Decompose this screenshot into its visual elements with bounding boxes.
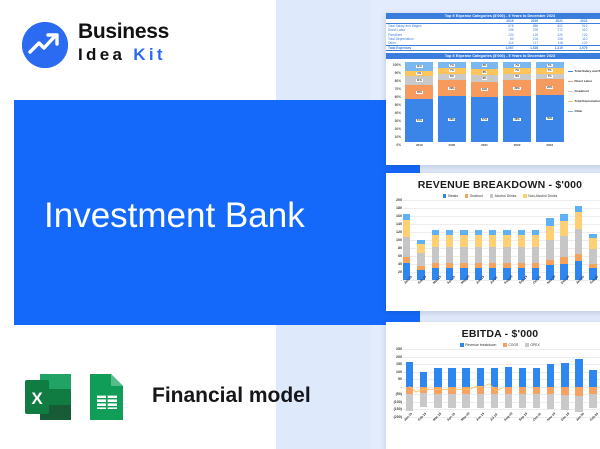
bar-value-label: 8% (482, 77, 488, 80)
axis-tick: 120 (396, 230, 402, 234)
bar-segment (561, 387, 568, 395)
bar-segment (460, 235, 467, 247)
axis-tick: 20% (388, 126, 401, 134)
stacked-bar: 11%6%11%18%54% (405, 62, 433, 142)
brand-kit-word: Kit (133, 45, 166, 64)
axis-tick: 20 (398, 270, 402, 274)
cell: 1,579 (565, 46, 590, 51)
legend-item: Steaks (443, 194, 458, 198)
bar-value-label: 20% (513, 87, 520, 90)
bar-segment (403, 237, 410, 257)
bar-segment (519, 387, 526, 394)
bar-segment: 59% (536, 95, 564, 142)
bar-value-label: 19% (481, 88, 488, 91)
axis-tick: 200 (396, 355, 402, 359)
axis-tick: 80 (398, 246, 402, 250)
legend-item: Seafood (465, 194, 483, 198)
bar-segment (475, 247, 482, 263)
bar-value-label: 8% (482, 71, 488, 74)
bar-segment (575, 396, 582, 412)
bar-segment (503, 247, 510, 263)
expense-table: 2019 2020 2021 2022 2023 Total Salary an… (386, 19, 600, 51)
bar-segment (446, 247, 453, 263)
revenue-y-axis: -20406080100120140160180200 (388, 200, 402, 280)
bar-value-label: 18% (416, 91, 423, 94)
bar-segment (589, 370, 596, 387)
legend-label: Other (575, 109, 583, 113)
bar-segment (575, 254, 582, 261)
axis-tick: 70% (388, 86, 401, 94)
bar-segment (547, 364, 554, 387)
legend-swatch (465, 194, 468, 197)
stacked-bar (446, 200, 453, 280)
bar-segment (432, 247, 439, 263)
axis-tick: (200) (394, 415, 402, 419)
bar-value-label: 58% (513, 118, 520, 121)
preview-stack: Top 5 Expense Categories ($'000) - 5 Yea… (370, 0, 600, 449)
bar-segment: 58% (438, 96, 466, 142)
bar-segment (533, 387, 540, 394)
axis-tick: (50) (396, 392, 402, 396)
bar-segment (546, 226, 553, 240)
bar-column (561, 349, 568, 417)
axis-label: 2019 (405, 143, 433, 147)
bar-segment (489, 235, 496, 247)
legend-label: Non-Alcohol Drinks (528, 194, 557, 198)
page-title: Investment Bank (44, 196, 424, 236)
bar-segment (518, 235, 525, 247)
axis-tick: 80% (388, 78, 401, 86)
axis-tick: 250 (396, 347, 402, 351)
brand-wordmark: Business Idea Kit (78, 20, 169, 66)
slide-canvas: Business Idea Kit Investment Bank X (0, 0, 600, 449)
cell: 1,526 (516, 46, 541, 51)
axis-tick: - (401, 385, 402, 389)
bar-segment (575, 229, 582, 254)
axis-tick: 100 (396, 370, 402, 374)
bar-column (533, 349, 540, 417)
bar-segment (589, 387, 596, 394)
stacked-bar (589, 200, 596, 280)
bar-segment (547, 387, 554, 395)
bar-segment: 20% (438, 80, 466, 96)
bar-segment (561, 395, 568, 411)
legend-swatch (443, 194, 446, 197)
stacked-bar: 7%7%7%20%59% (536, 62, 564, 142)
bar-value-label: 11% (416, 79, 423, 82)
cell: 1,732 (589, 46, 600, 51)
axis-tick: 0% (388, 142, 401, 150)
stacked-bar (503, 200, 510, 280)
stacked-bar: 7%7%8%20%58% (503, 62, 531, 142)
legend-swatch (490, 194, 493, 197)
ebitda-card[interactable]: EBITDA - $'000 Revenue breakdownCOGSOPEX… (386, 322, 600, 449)
bar-segment: 58% (503, 96, 531, 142)
axis-tick: 50% (388, 102, 401, 110)
axis-tick: 140 (396, 222, 402, 226)
bar-segment (575, 387, 582, 396)
bar-segment (560, 214, 567, 221)
bar-value-label: 11% (416, 65, 423, 68)
legend-label: Revenue breakdown (465, 343, 496, 347)
bar-segment (518, 247, 525, 263)
legend-item: Other (568, 109, 600, 113)
bar-segment (589, 394, 596, 408)
axis-tick: 100% (388, 62, 401, 70)
axis-label: 2020 (438, 143, 466, 147)
legend-label: Fixed/rent (575, 89, 589, 93)
axis-tick: 50 (398, 377, 402, 381)
bar-segment (532, 247, 539, 263)
axis-tick: (150) (394, 407, 402, 411)
stacked-bar (532, 200, 539, 280)
ebitda-legend: Revenue breakdownCOGSOPEX (386, 343, 600, 347)
legend-item: Fixed/rent (568, 89, 600, 93)
bar-segment: 54% (405, 99, 433, 142)
bar-segment (533, 368, 540, 387)
microsoft-excel-icon: X (24, 372, 72, 422)
axis-tick: 160 (396, 214, 402, 218)
bar-segment (475, 235, 482, 247)
bar-segment (547, 394, 554, 409)
bar-segment (575, 359, 582, 387)
legend-label: OPEX (530, 343, 539, 347)
legend-item: COGS (503, 343, 518, 347)
row-label: Total Expenses (386, 46, 491, 51)
brand-idea-word: Idea (78, 45, 125, 64)
bar-value-label: 6% (416, 72, 422, 75)
stacked-bar (432, 200, 439, 280)
revenue-legend: SteaksSeafoodAlcohol DrinksNon-Alcohol D… (386, 194, 600, 198)
legend-swatch (525, 343, 528, 346)
revenue-plot: -20406080100120140160180200 Jan-19Feb-19… (386, 200, 600, 298)
bar-segment (446, 235, 453, 247)
expense-categories-card[interactable]: Top 5 Expense Categories ($'000) - 5 Yea… (386, 13, 600, 165)
ebitda-opex-line (406, 349, 506, 417)
legend-item: Direct Labor (568, 79, 600, 83)
legend-item: OPEX (525, 343, 539, 347)
bar-value-label: 7% (514, 64, 520, 67)
bar-value-label: 8% (482, 64, 488, 67)
bar-segment (503, 235, 510, 247)
bar-segment (560, 221, 567, 236)
axis-tick: 200 (396, 198, 402, 202)
bar-segment (432, 235, 439, 247)
axis-tick: 60 (398, 254, 402, 258)
ebitda-y-axis: (200)(150)(100)(50)-50100150200250 (388, 349, 402, 417)
bar-segment (589, 238, 596, 248)
bar-segment: 11% (405, 62, 433, 71)
axis-label: 2023 (536, 143, 564, 147)
axis-tick: 180 (396, 206, 402, 210)
stacked-bar (417, 200, 424, 280)
brand-line-1: Business (78, 20, 169, 44)
stacked-bar: 7%7%8%20%58% (438, 62, 466, 142)
legend-item: Total Depreciation (568, 99, 600, 103)
svg-text:X: X (31, 389, 43, 408)
bar-segment (417, 253, 424, 266)
legend-swatch (568, 91, 573, 93)
bar-value-label: 7% (547, 69, 553, 72)
bar-segment (460, 247, 467, 263)
bar-segment: 20% (536, 79, 564, 95)
stacked-bar (518, 200, 525, 280)
bar-segment (403, 220, 410, 237)
bar-segment (546, 218, 553, 226)
legend-label: Alcohol Drinks (495, 194, 517, 198)
bar-value-label: 8% (514, 75, 520, 78)
format-label: Financial model (152, 384, 311, 408)
bar-value-label: 7% (547, 75, 553, 78)
cell: 1,067 (491, 46, 516, 51)
revenue-x-axis: Jan-19Feb-19Mar-19Apr-19May-19Jun-19Jul-… (403, 282, 600, 286)
ebitda-plot: (200)(150)(100)(50)-50100150200250 Jan-1… (386, 349, 600, 437)
legend-label: Seafood (470, 194, 483, 198)
axis-label: 2022 (503, 143, 531, 147)
legend-item: Non-Alcohol Drinks (523, 194, 557, 198)
legend-label: Direct Labor (575, 79, 593, 83)
stacked-x-axis: 20192020202120222023 (403, 143, 566, 147)
stacked-y-axis: 100%90%80%70%60%50%40%30%20%10%0% (388, 62, 401, 142)
axis-tick: 90% (388, 70, 401, 78)
bar-segment (519, 368, 526, 387)
legend-item: Revenue breakdown (460, 343, 496, 347)
expense-stacked-chart: 100%90%80%70%60%50%40%30%20%10%0% 11%6%1… (386, 59, 600, 154)
bar-column (547, 349, 554, 417)
bar-value-label: 20% (448, 87, 455, 90)
bar-segment: 18% (405, 85, 433, 99)
bar-segment: 57% (471, 97, 499, 143)
bar-value-label: 7% (547, 64, 553, 67)
bar-segment (533, 394, 540, 409)
legend-swatch (523, 194, 526, 197)
axis-tick: 150 (396, 362, 402, 366)
revenue-bars (403, 200, 600, 280)
bar-value-label: 7% (514, 69, 520, 72)
bar-value-label: 57% (481, 118, 488, 121)
bar-value-label: 58% (448, 118, 455, 121)
axis-label: 2021 (471, 143, 499, 147)
ebitda-chart-title: EBITDA - $'000 (386, 328, 600, 340)
bar-column (519, 349, 526, 417)
legend-label: Total Depreciation (575, 99, 600, 103)
legend-label: Total Salary and Wages (575, 69, 600, 73)
bar-value-label: 54% (416, 119, 423, 122)
bar-segment (560, 236, 567, 257)
stacked-bar (546, 200, 553, 280)
axis-tick: (100) (394, 400, 402, 404)
legend-swatch (460, 343, 463, 346)
bar-segment: 11% (405, 76, 433, 85)
revenue-breakdown-card[interactable]: REVENUE BREAKDOWN - $'000 SteaksSeafoodA… (386, 173, 600, 311)
axis-tick: 40% (388, 110, 401, 118)
google-sheets-icon (84, 372, 132, 422)
stacked-bar (460, 200, 467, 280)
bar-segment (489, 247, 496, 263)
stacked-bar (489, 200, 496, 280)
stacked-bar (475, 200, 482, 280)
bar-segment: 19% (471, 82, 499, 97)
ebitda-x-axis: Jan-19Feb-19Mar-19Apr-19May-19Jun-19Jul-… (403, 419, 600, 423)
bar-segment: 20% (503, 80, 531, 96)
legend-swatch (568, 101, 573, 103)
brand-logo: Business Idea Kit (22, 20, 232, 72)
axis-tick: 40 (398, 262, 402, 266)
cell: 1,419 (540, 46, 565, 51)
growth-arrow-circle-icon (22, 22, 68, 68)
stacked-plot: 11%6%11%18%54%7%7%8%20%58%8%8%8%19%57%7%… (403, 62, 566, 142)
bar-value-label: 20% (546, 86, 553, 89)
bar-value-label: 7% (449, 69, 455, 72)
bar-segment (519, 394, 526, 409)
legend-swatch (568, 71, 573, 73)
bar-segment (589, 249, 596, 264)
stacked-bar (575, 200, 582, 280)
axis-tick: 100 (396, 238, 402, 242)
axis-tick: 30% (388, 118, 401, 126)
legend-swatch (568, 81, 573, 83)
stacked-bar (403, 200, 410, 280)
bar-segment (575, 212, 582, 229)
bar-column (589, 349, 596, 417)
bar-value-label: 59% (546, 117, 553, 120)
bar-column (575, 349, 582, 417)
stacked-bar (560, 200, 567, 280)
table-total-row: Total Expenses 1,067 1,526 1,419 1,579 1… (386, 46, 600, 51)
axis-tick: 10% (388, 134, 401, 142)
bar-segment (546, 240, 553, 259)
bar-segment (417, 244, 424, 253)
legend-item: Total Salary and Wages (568, 69, 600, 73)
legend-label: Steaks (448, 194, 458, 198)
bar-value-label: 7% (449, 64, 455, 67)
stacked-legend: Total Salary and WagesDirect LaborFixed/… (568, 69, 600, 119)
axis-tick: 60% (388, 94, 401, 102)
bar-segment (532, 235, 539, 247)
stacked-bar: 8%8%8%19%57% (471, 62, 499, 142)
legend-swatch (503, 343, 506, 346)
bar-value-label: 8% (449, 75, 455, 78)
bar-segment (561, 363, 568, 387)
brand-line-2: Idea Kit (78, 44, 169, 66)
revenue-chart-title: REVENUE BREAKDOWN - $'000 (386, 179, 600, 191)
legend-swatch (568, 111, 573, 113)
legend-label: COGS (508, 343, 518, 347)
legend-item: Alcohol Drinks (490, 194, 517, 198)
